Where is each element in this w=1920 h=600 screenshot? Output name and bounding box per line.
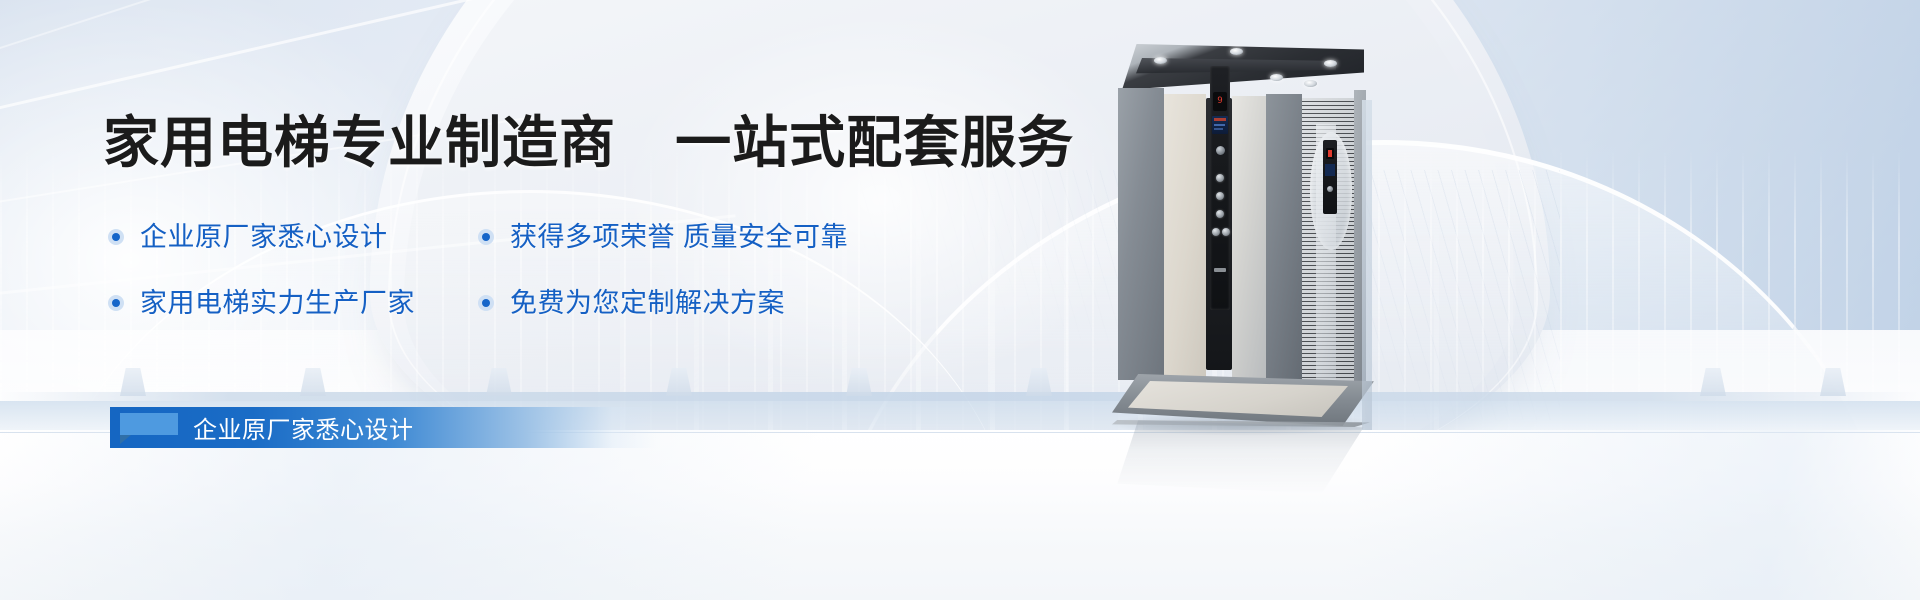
- floor-indicator-value: 9: [1217, 97, 1222, 106]
- dot-bullet-icon: [478, 295, 494, 311]
- dot-bullet-icon: [108, 229, 124, 245]
- headline-part-1: 家用电梯专业制造商: [103, 111, 616, 174]
- ceiling-light-icon: [1154, 57, 1167, 64]
- feature-label: 家用电梯实力生产厂家: [140, 288, 415, 318]
- ribbon-label: 企业原厂家悉心设计: [193, 410, 414, 445]
- cabin-panel-cream: [1164, 94, 1206, 380]
- ceiling-light-icon: [1270, 74, 1283, 81]
- feature-item-3: 家用电梯实力生产厂家: [108, 281, 478, 325]
- banner-headline: 家用电梯专业制造商 一站式配套服务: [103, 112, 1074, 174]
- feature-item-2: 获得多项荣誉 质量安全可靠: [478, 215, 848, 259]
- door-close-button-icon[interactable]: [1222, 228, 1230, 236]
- dot-bullet-icon: [478, 229, 494, 245]
- highlight-ribbon[interactable]: 企业原厂家悉心设计: [110, 407, 656, 448]
- floor-indicator-display: 9: [1213, 92, 1227, 111]
- control-panel-brand-logo: [1214, 268, 1226, 272]
- ribbon-flag-icon: [120, 413, 178, 435]
- feature-label: 获得多项荣誉 质量安全可靠: [510, 222, 848, 252]
- cabin-panel-silver: [1232, 96, 1266, 380]
- control-panel-key-switch[interactable]: [1216, 146, 1225, 155]
- hero-banner: 家用电梯专业制造商 一站式配套服务 企业原厂家悉心设计 获得多项荣誉 质量安全可…: [0, 0, 1920, 600]
- ceiling-light-icon: [1324, 60, 1337, 67]
- reflected-control-lcd: [1325, 164, 1335, 176]
- dot-bullet-icon: [108, 295, 124, 311]
- door-open-button-icon[interactable]: [1212, 228, 1220, 236]
- cabin-wall-left: [1118, 88, 1164, 380]
- floor-button-icon[interactable]: [1216, 174, 1224, 182]
- headline-part-2: 一站式配套服务: [675, 111, 1074, 174]
- cabin-wall-middle: [1266, 94, 1302, 382]
- elevator-cabin-body: [1118, 84, 1366, 380]
- feature-item-4: 免费为您定制解决方案: [478, 281, 848, 325]
- home-elevator-cabin-image: 9: [1118, 44, 1366, 416]
- feature-list: 企业原厂家悉心设计 获得多项荣誉 质量安全可靠 家用电梯实力生产厂家 免费为您定…: [108, 215, 848, 325]
- feature-label: 免费为您定制解决方案: [510, 288, 785, 318]
- control-panel-lcd: [1212, 116, 1228, 134]
- floor-button-icon[interactable]: [1216, 192, 1224, 200]
- feature-label: 企业原厂家悉心设计: [140, 222, 388, 252]
- reflected-key-switch-icon: [1327, 186, 1333, 192]
- floor-button-icon[interactable]: [1216, 210, 1224, 218]
- feature-item-1: 企业原厂家悉心设计: [108, 215, 478, 259]
- cabin-glass-right: [1362, 100, 1372, 430]
- ceiling-light-icon: [1230, 48, 1243, 55]
- reflected-floor-indicator: [1326, 148, 1334, 159]
